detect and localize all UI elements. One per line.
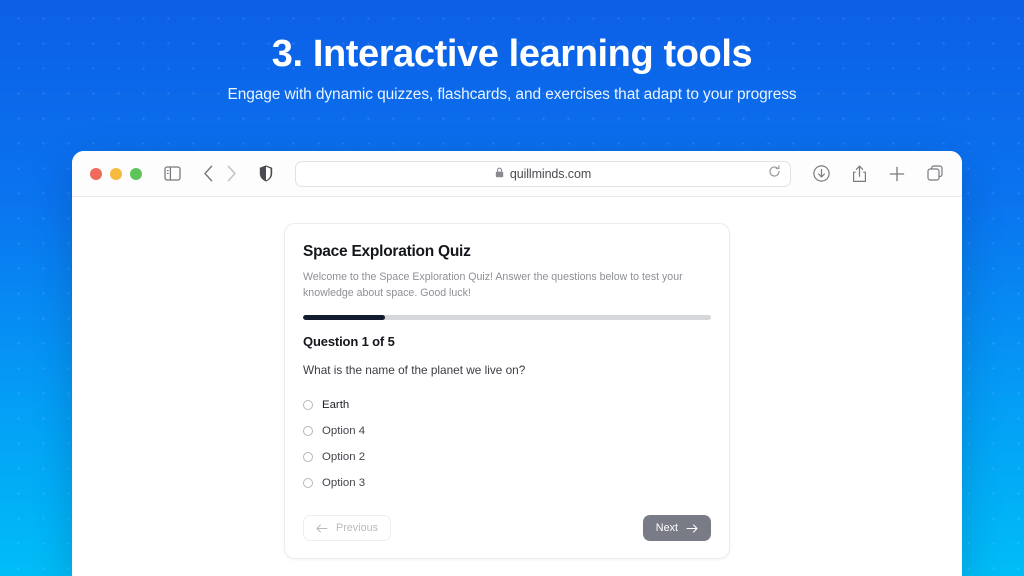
previous-button[interactable]: Previous [303, 515, 391, 541]
quiz-navigation: Previous Next [303, 515, 711, 541]
address-bar[interactable]: quillminds.com [295, 161, 791, 187]
shield-icon[interactable] [259, 165, 273, 182]
arrow-right-icon [686, 524, 698, 533]
list-item[interactable]: Option 4 [303, 418, 711, 444]
arrow-left-icon [316, 524, 328, 533]
question-counter: Question 1 of 5 [303, 334, 711, 349]
page-content: Space Exploration Quiz Welcome to the Sp… [72, 197, 962, 576]
maximize-window-button[interactable] [130, 168, 142, 180]
list-item[interactable]: Option 3 [303, 470, 711, 496]
option-label: Option 3 [322, 477, 365, 489]
chevron-left-icon[interactable] [203, 165, 214, 182]
previous-button-label: Previous [336, 522, 378, 534]
browser-toolbar: quillminds.com [72, 151, 962, 197]
answer-options-list: Earth Option 4 Option 2 Option 3 [303, 392, 711, 496]
browser-window: quillminds.com [72, 151, 962, 576]
url-text: quillminds.com [510, 167, 591, 181]
new-tab-icon[interactable] [889, 166, 905, 182]
radio-button[interactable] [303, 478, 313, 488]
page-title: 3. Interactive learning tools [0, 33, 1024, 76]
radio-button[interactable] [303, 426, 313, 436]
option-label: Option 4 [322, 425, 365, 437]
address-bar-content: quillminds.com [495, 165, 591, 183]
page-subtitle: Engage with dynamic quizzes, flashcards,… [0, 86, 1024, 104]
option-label: Earth [322, 399, 349, 411]
list-item[interactable]: Earth [303, 392, 711, 418]
list-item[interactable]: Option 2 [303, 444, 711, 470]
radio-button[interactable] [303, 400, 313, 410]
quiz-title: Space Exploration Quiz [303, 243, 711, 261]
progress-bar-track [303, 315, 711, 320]
window-controls[interactable] [90, 168, 142, 180]
share-icon[interactable] [852, 165, 867, 183]
quiz-card: Space Exploration Quiz Welcome to the Sp… [284, 223, 730, 559]
next-button-label: Next [656, 522, 678, 534]
radio-button[interactable] [303, 452, 313, 462]
progress-bar-fill [303, 315, 385, 320]
slide-canvas: 3. Interactive learning tools Engage wit… [0, 0, 1024, 576]
option-label: Option 2 [322, 451, 365, 463]
lock-icon [495, 165, 504, 183]
download-icon[interactable] [813, 165, 830, 182]
quiz-description: Welcome to the Space Exploration Quiz! A… [303, 269, 708, 301]
hero-section: 3. Interactive learning tools Engage wit… [0, 0, 1024, 104]
chevron-right-icon[interactable] [226, 165, 237, 182]
sidebar-icon[interactable] [164, 166, 181, 181]
reload-icon[interactable] [768, 165, 781, 183]
minimize-window-button[interactable] [110, 168, 122, 180]
close-window-button[interactable] [90, 168, 102, 180]
next-button[interactable]: Next [643, 515, 711, 541]
tab-overview-icon[interactable] [927, 165, 944, 182]
question-text: What is the name of the planet we live o… [303, 363, 711, 377]
toolbar-actions [813, 165, 944, 183]
